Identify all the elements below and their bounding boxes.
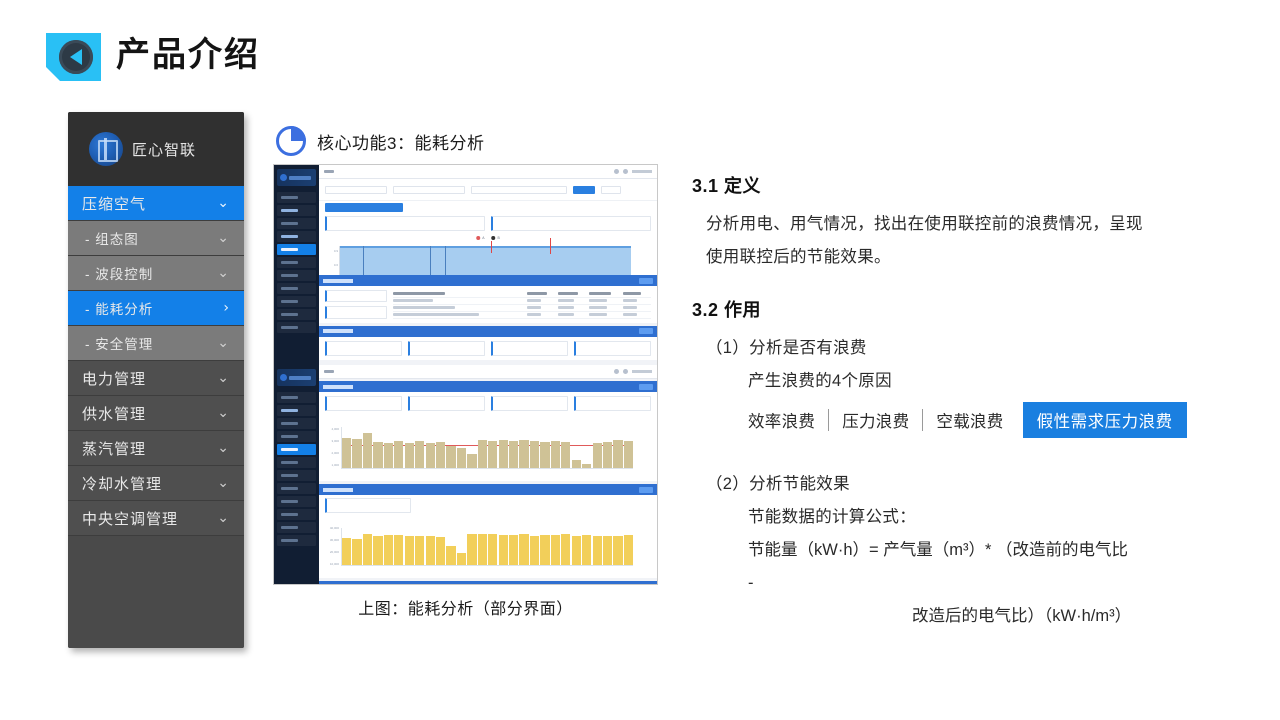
chart-legend: A B [476,236,500,240]
kpi-card [408,396,485,411]
screenshot-nav-item[interactable] [277,535,316,546]
chart-bar [613,536,622,565]
sidebar-item-power-management[interactable]: 电力管理 ⌄ [68,361,244,396]
screenshot-nav-item[interactable] [277,392,316,403]
sidebar-item-label: - 组态图 [85,228,139,248]
chart-bar [593,536,602,565]
chart-bar [436,442,445,468]
screenshot-topbar [319,365,657,379]
right-column: 3.1 定义 分析用电、用气情况，找出在使用联控前的浪费情况，呈现 使用联控后的… [692,172,1252,633]
table-header-cell [589,290,623,297]
chart-bar [446,446,455,468]
table-cell [589,311,623,318]
chart-bar [540,535,549,565]
purpose-item-1: （1）分析是否有浪费 [692,332,1252,365]
chart-bar [457,553,466,565]
chevron-down-icon: ⌄ [217,265,230,281]
chevron-down-icon: ⌄ [217,335,230,351]
y-axis-label: 1,000 [321,463,339,467]
sidebar-item-label: 供水管理 [82,403,146,424]
energy-bar-chart: 4,000 3,000 2,000 1,000 [319,415,657,481]
chevron-down-icon: ⌄ [217,405,230,421]
kpi-card [491,341,568,356]
chevron-down-icon: ⌄ [217,370,230,386]
chart-bar [593,443,602,468]
chart-bar [426,443,435,468]
table-cell [558,297,589,304]
y-axis-label: 30,000 [321,538,339,542]
sidebar-item-band-control[interactable]: - 波段控制 ⌄ [68,256,244,291]
slide-canvas: 产品介绍 匠心智联 压缩空气 ⌄ - 组态图 ⌄ - 波段控制 ⌄ - 能耗分析… [0,0,1280,720]
run-data-table [393,290,651,319]
chart-bar [478,534,487,565]
screenshot-nav-item[interactable] [277,231,316,242]
purpose-item-1-sub: 产生浪费的4个原因 [692,365,1252,398]
chevron-down-icon: ⌄ [217,440,230,456]
sidebar-item-water-supply-management[interactable]: 供水管理 ⌄ [68,396,244,431]
chevron-down-icon: ⌄ [217,510,230,526]
section-header-cost [319,581,657,585]
screenshot-nav-item[interactable] [277,322,316,333]
table-cell [558,311,589,318]
expand-button[interactable] [639,328,653,334]
table-cell [623,311,651,318]
app-screenshot-thumbnail: A B 0.9 0.6 0.3 0.0 [273,164,658,585]
screenshot-nav-item[interactable] [277,205,316,216]
formula-line-2: - [692,567,1252,600]
screenshot-nav-item-selected[interactable] [277,444,316,455]
chart-bar [415,441,424,468]
chart-bar [624,535,633,565]
table-cell [393,311,527,318]
screenshot-nav-item[interactable] [277,218,316,229]
table-header-cell [527,290,558,297]
chart-bar [426,536,435,565]
table-cell [527,304,558,311]
refresh-icon[interactable] [614,369,619,374]
chart-bar [405,443,414,468]
sidebar-item-label: 压缩空气 [82,193,146,214]
screenshot-nav-item[interactable] [277,496,316,507]
kpi-card [574,396,651,411]
section-header-run-data [319,275,657,286]
chart-bar [551,441,560,468]
chart-bar [363,534,372,565]
chart-bar [352,439,361,468]
y-axis-label: 20,000 [321,550,339,554]
sidebar-item-configuration-diagram[interactable]: - 组态图 ⌄ [68,221,244,256]
chart-bar [561,442,570,468]
chart-bar [488,441,497,468]
slide-header: 产品介绍 [0,0,1280,108]
tab-strip-active[interactable] [325,203,403,212]
expand-button[interactable] [639,487,653,493]
definition-line-2: 使用联控后的节能效果。 [692,241,1252,274]
sidebar-item-label: - 能耗分析 [85,298,153,318]
pie-chart-icon [276,126,306,156]
screenshot-kpi-cards-4 [319,495,657,516]
section-header-energy-saving [319,326,657,337]
reset-button[interactable] [601,186,621,194]
chart-bar [352,539,361,565]
chevron-down-icon: ⌄ [217,230,230,246]
chart-bar [342,538,351,565]
y-axis-label: 4,000 [321,427,339,431]
menu-icon[interactable] [324,170,334,173]
kpi-card [325,341,402,356]
chart-bar [363,433,372,468]
chart-bar [540,442,549,468]
filter-select-1[interactable] [325,186,387,194]
waste-reason-false-demand[interactable]: 假性需求压力浪费 [1023,402,1187,438]
chart-bar [446,546,455,565]
badge-circle [59,40,93,74]
sidebar-item-label: 蒸汽管理 [82,438,146,459]
table-cell [623,297,651,304]
formula-line-1: 节能量（kW·h）= 产气量（m³）* （改造前的电气比 [692,534,1252,567]
screenshot-main-2: 4,000 3,000 2,000 1,000 40,000 [319,365,657,585]
kpi-card [408,341,485,356]
sidebar-item-hvac-management[interactable]: 中央空调管理 ⌄ [68,501,244,536]
screenshot-nav-item[interactable] [277,483,316,494]
sidebar-item-label: 中央空调管理 [82,508,178,529]
screenshot-nav-item[interactable] [277,270,316,281]
screenshot-topbar-right [614,369,652,374]
screenshot-nav-item[interactable] [277,192,316,203]
chart-bar [572,460,581,468]
definition-line-1: 分析用电、用气情况，找出在使用联控前的浪费情况，呈现 [692,208,1252,241]
chevron-right-icon: › [223,300,230,316]
sidebar-item-label: - 安全管理 [85,333,153,353]
screenshot-kpi-cards-2 [319,337,657,360]
y-axis-label: 3,000 [321,439,339,443]
chart-bar [499,535,508,565]
chart-peak [550,238,551,254]
screenshot-nav-item[interactable] [277,296,316,307]
chart-bar [624,441,633,468]
screenshot-filter-row [319,179,657,201]
screenshot-nav-1 [274,188,319,333]
kpi-card [325,290,387,302]
user-avatar[interactable] [623,169,628,174]
bar-series-energy [341,427,633,469]
query-button[interactable] [573,186,595,194]
kpi-card [491,216,651,231]
chart-bar [415,536,424,565]
chart-bar [509,441,518,468]
chart-bar [551,535,560,565]
sidebar-item-label: - 波段控制 [85,263,153,283]
waste-reason-row: 效率浪费 压力浪费 空载浪费 假性需求压力浪费 [692,402,1252,438]
kpi-card [325,498,411,513]
table-header-cell [558,290,589,297]
kpi-card [325,216,485,231]
chart-bar [519,440,528,468]
user-name-placeholder [632,170,652,173]
screenshot-logo-icon [277,369,316,386]
kpi-card [491,396,568,411]
chart-bar [509,535,518,565]
play-left-icon [46,33,101,81]
expand-button[interactable] [639,384,653,390]
user-avatar[interactable] [623,369,628,374]
screenshot-nav-2 [274,388,319,546]
chart-bar [467,454,476,468]
table-cell [558,304,589,311]
screenshot-logo-icon [277,169,316,186]
table-row[interactable] [393,304,651,311]
waste-reason-idle[interactable]: 空载浪费 [923,408,1016,432]
screenshot-caption: 上图：能耗分析（部分界面） [273,595,658,619]
screenshot-nav-item[interactable] [277,283,316,294]
screenshot-kpi-cards-3 [319,392,657,415]
table-header-cell [623,290,651,297]
bar-series-gas [341,528,633,566]
chart-bar [467,534,476,565]
device-menu-filler [68,536,244,648]
feature-title: 核心功能3：能耗分析 [317,129,484,154]
y-axis-label: 40,000 [321,526,339,530]
table-row[interactable] [393,311,651,318]
sidebar-item-compressed-air[interactable]: 压缩空气 ⌄ [68,186,244,221]
table-cell [527,311,558,318]
company-logo-icon [89,132,123,166]
chart-bar [405,536,414,565]
page-title: 产品介绍 [116,33,260,77]
device-brand-bar: 匠心智联 [68,112,244,186]
screenshot-topbar-right [614,169,652,174]
chart-peak [491,241,492,253]
sidebar-item-safety-management[interactable]: - 安全管理 ⌄ [68,326,244,361]
filter-select-2[interactable] [393,186,465,194]
table-cell [623,304,651,311]
chart-bar [519,534,528,565]
screenshot-nav-item[interactable] [277,431,316,442]
heading-3-2: 3.2 作用 [692,296,1252,322]
chart-bar [394,535,403,565]
table-header-cell [393,290,527,297]
screenshot-sidebar-2 [274,365,319,585]
chart-bar [530,536,539,565]
chart-bar [457,448,466,468]
chevron-down-icon: ⌄ [217,195,230,211]
screenshot-nav-item[interactable] [277,470,316,481]
chart-bar [478,440,487,468]
kpi-card [574,341,651,356]
gas-bar-chart: 40,000 30,000 20,000 10,000 [319,516,657,578]
menu-icon[interactable] [324,370,334,373]
device-menu: 压缩空气 ⌄ - 组态图 ⌄ - 波段控制 ⌄ - 能耗分析 › - 安全管理 … [68,186,244,648]
screenshot-nav-item[interactable] [277,522,316,533]
chart-bar [613,440,622,468]
chart-bar [530,441,539,468]
feature-heading: 核心功能3：能耗分析 [276,118,665,164]
chart-bar [603,536,612,565]
screenshot-tables [319,275,657,365]
expand-button[interactable] [639,278,653,284]
chart-bar [572,536,581,565]
chart-bar [488,534,497,565]
table-row[interactable] [393,297,651,304]
chart-bar [342,438,351,469]
table-cell [393,304,527,311]
screenshot-nav-item[interactable] [277,457,316,468]
chevron-down-icon: ⌄ [217,475,230,491]
chart-bar [436,537,445,565]
chart-bar [373,536,382,565]
screenshot-kpi-cards-1 [319,212,657,235]
filter-date-range[interactable] [471,186,567,194]
chart-bar [603,442,612,468]
table-header-row [393,290,651,297]
sidebar-item-energy-analysis[interactable]: - 能耗分析 › [68,291,244,326]
user-name-placeholder [632,370,652,373]
chart-bar [384,443,393,468]
waste-reason-efficiency[interactable]: 效率浪费 [748,408,828,432]
sidebar-item-cooling-water-management[interactable]: 冷却水管理 ⌄ [68,466,244,501]
waste-reason-pressure[interactable]: 压力浪费 [829,408,922,432]
purpose-item-2: （2）分析节能效果 [692,468,1252,501]
screenshot-nav-item[interactable] [277,509,316,520]
table-cell [589,297,623,304]
screenshot-nav-item[interactable] [277,257,316,268]
chart-bar [373,442,382,468]
heading-3-1: 3.1 定义 [692,172,1252,198]
y-axis-label: 0.9 [321,249,338,253]
screenshot-nav-item-selected[interactable] [277,244,316,255]
chart-bar [384,535,393,565]
chart-bar [582,535,591,565]
device-brand-label: 匠心智联 [132,139,196,160]
purpose-item-2-sub: 节能数据的计算公式： [692,501,1252,534]
screenshot-nav-item[interactable] [277,405,316,416]
legend-item: B [492,236,500,240]
formula-line-3: 改造后的电气比）（kW·h/m³） [692,600,1252,633]
kpi-card [325,396,402,411]
table-cell [589,304,623,311]
screenshot-nav-item[interactable] [277,418,316,429]
device-mockup: 匠心智联 压缩空气 ⌄ - 组态图 ⌄ - 波段控制 ⌄ - 能耗分析 › - … [68,112,244,648]
chart-bar [499,440,508,468]
sidebar-item-label: 冷却水管理 [82,473,162,494]
screenshot-nav-item[interactable] [277,309,316,320]
expand-button[interactable] [639,584,653,586]
y-axis-label: 2,000 [321,451,339,455]
center-column: 核心功能3：能耗分析 [273,118,665,619]
chart-bar [582,464,591,468]
section-header-energy-saving-2 [319,381,657,392]
section-header-gas-output [319,484,657,495]
run-data-panel [319,286,657,323]
chart-bar [561,534,570,565]
screenshot-topbar [319,165,657,179]
sidebar-item-label: 电力管理 [82,368,146,389]
legend-item: A [476,236,484,240]
refresh-icon[interactable] [614,169,619,174]
table-cell [527,297,558,304]
screenshot-sidebar-1 [274,165,319,369]
sidebar-item-steam-management[interactable]: 蒸汽管理 ⌄ [68,431,244,466]
table-cell [393,297,527,304]
chart-bar [394,441,403,468]
y-axis-label: 10,000 [321,562,339,566]
kpi-card [325,306,387,318]
y-axis-label: 0.6 [321,263,338,267]
badge-triangle [70,49,82,65]
